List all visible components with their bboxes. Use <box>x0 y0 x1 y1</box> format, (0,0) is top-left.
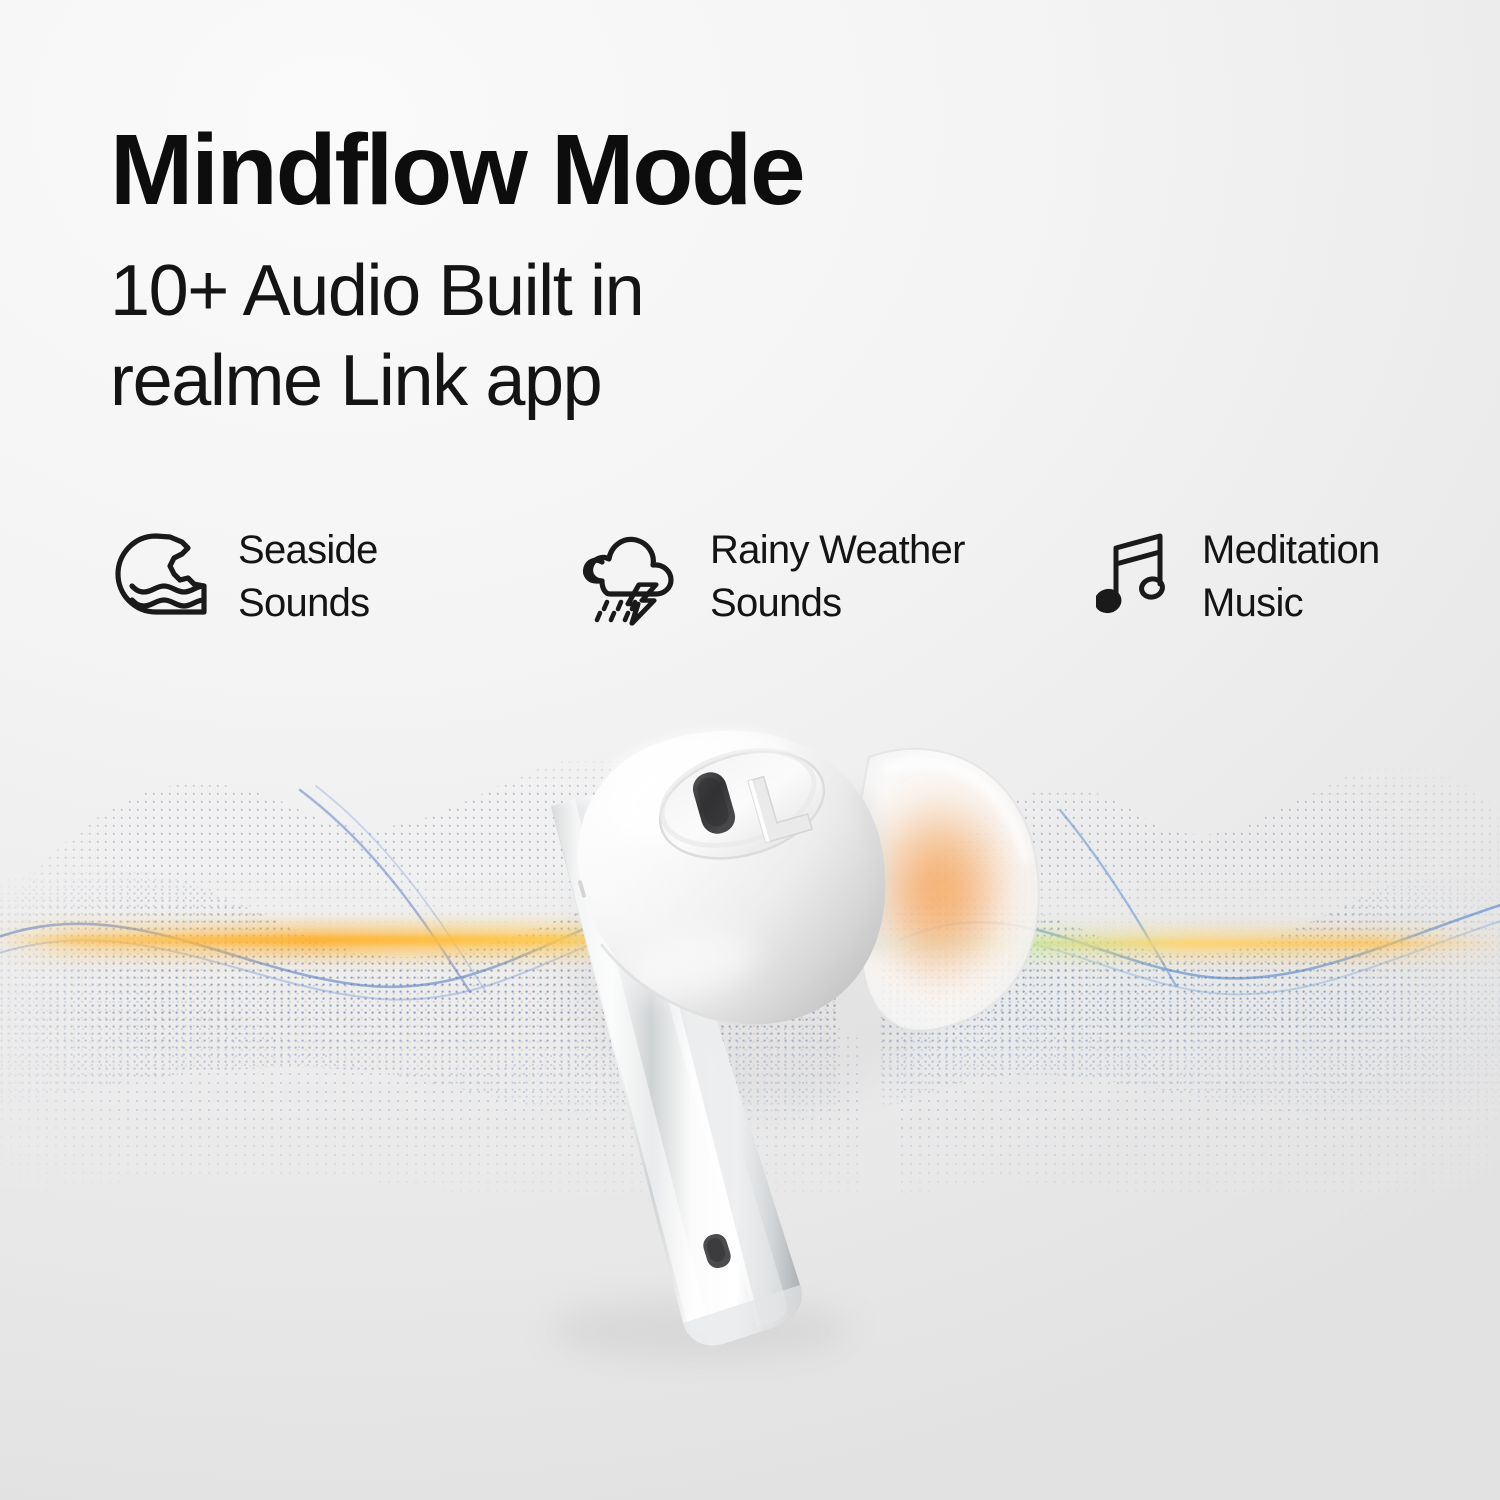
page-title: Mindflow Mode <box>110 118 1110 222</box>
feature-label-line-2: Music <box>1202 577 1380 630</box>
subheading-line-2: realme Link app <box>110 336 1110 426</box>
music-note-icon <box>1096 528 1178 625</box>
rain-cloud-lightning-icon <box>576 528 684 631</box>
feature-label-line-1: Seaside <box>238 524 378 577</box>
subheading: 10+ Audio Built in realme Link app <box>110 246 1110 426</box>
feature-label-line-1: Meditation <box>1202 524 1380 577</box>
headline-block: Mindflow Mode 10+ Audio Built in realme … <box>110 118 1110 426</box>
product-marketing-banner: Mindflow Mode 10+ Audio Built in realme … <box>0 0 1500 1500</box>
feature-meditation-music: Meditation Music <box>1096 524 1426 630</box>
feature-label-line-1: Rainy Weather <box>710 524 965 577</box>
feature-list: Seaside Sounds <box>108 524 1438 631</box>
feature-label: Seaside Sounds <box>238 524 378 630</box>
feature-label-line-2: Sounds <box>710 577 965 630</box>
ocean-wave-icon <box>108 528 212 627</box>
feature-label: Meditation Music <box>1202 524 1380 630</box>
feature-rainy-weather-sounds: Rainy Weather Sounds <box>576 524 1096 631</box>
feature-label-line-2: Sounds <box>238 577 378 630</box>
feature-seaside-sounds: Seaside Sounds <box>108 524 576 630</box>
feature-label: Rainy Weather Sounds <box>710 524 965 630</box>
subheading-line-1: 10+ Audio Built in <box>110 246 1110 336</box>
